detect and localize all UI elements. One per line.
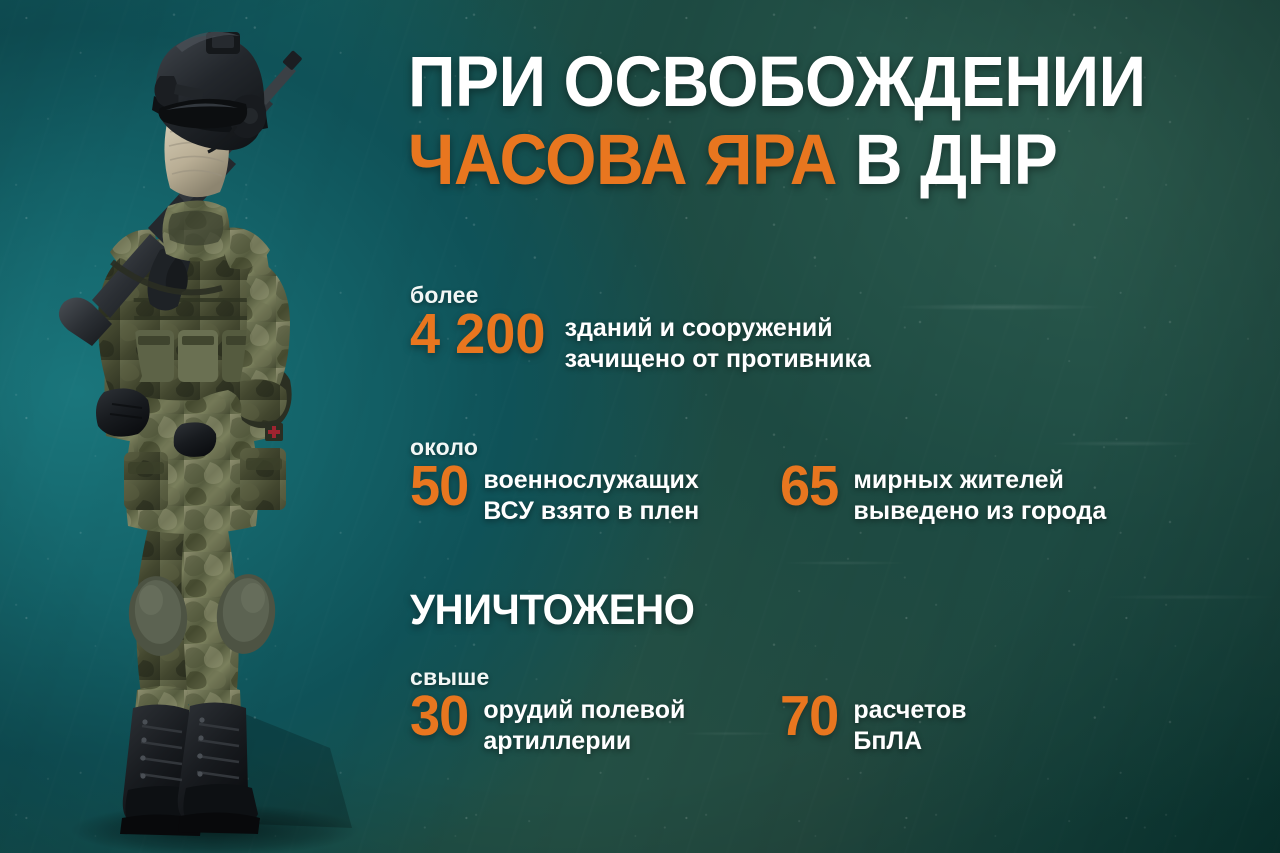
headline-region: В ДНР [855,121,1057,200]
stat-row: 4 200 зданий и сооружений зачищено от пр… [410,311,871,374]
stat-item-uav-crews: 70 расчетов БпЛА [780,693,966,756]
stat-prefix: свыше [410,664,966,691]
headline-city: ЧАСОВА ЯРА [408,121,837,200]
stat-description-line-2: артиллерии [483,726,685,757]
stat-value: 30 [410,693,468,740]
headline-line-2: ЧАСОВА ЯРА В ДНР [408,126,1022,196]
stat-description-line-1: орудий полевой [483,695,685,726]
stat-value: 70 [780,693,838,740]
stat-item-pow: 50 военнослужащих ВСУ взято в плен [410,463,780,526]
stat-item-buildings: 4 200 зданий и сооружений зачищено от пр… [410,311,871,374]
stat-description: мирных жителей выведено из города [853,463,1106,526]
stat-group-people: около 50 военнослужащих ВСУ взято в плен… [410,434,1106,526]
stat-description: зданий и сооружений зачищено от противни… [565,311,871,374]
stat-item-civilians: 65 мирных жителей выведено из города [780,463,1106,526]
stat-value: 65 [780,463,838,510]
stat-group-buildings: более 4 200 зданий и сооружений зачищено… [410,282,871,374]
stat-description-line-1: зданий и сооружений [565,313,871,344]
stat-row: 50 военнослужащих ВСУ взято в плен 65 ми… [410,463,1106,526]
infographic-poster: ПРИ ОСВОБОЖДЕНИИ ЧАСОВА ЯРА В ДНР более … [0,0,1280,853]
stat-group-destroyed: свыше 30 орудий полевой артиллерии 70 ра… [410,664,966,756]
content-column: ПРИ ОСВОБОЖДЕНИИ ЧАСОВА ЯРА В ДНР более … [408,0,1280,853]
stat-description-line-2: БпЛА [853,726,966,757]
stat-description-line-2: зачищено от противника [565,344,871,375]
stat-prefix: около [410,434,1106,461]
stat-value: 50 [410,463,468,510]
section-title-destroyed: УНИЧТОЖЕНО [410,586,695,635]
stat-description: расчетов БпЛА [853,693,966,756]
stat-description: военнослужащих ВСУ взято в плен [483,463,699,526]
stat-description-line-1: расчетов [853,695,966,726]
soldier-figure [0,0,420,853]
stat-description: орудий полевой артиллерии [483,693,685,756]
stat-description-line-1: мирных жителей [853,465,1106,496]
stat-description-line-2: ВСУ взято в плен [483,496,699,527]
stat-item-artillery: 30 орудий полевой артиллерии [410,693,780,756]
page-title: ПРИ ОСВОБОЖДЕНИИ ЧАСОВА ЯРА В ДНР [408,48,1068,195]
stat-description-line-2: выведено из города [853,496,1106,527]
headline-line-1: ПРИ ОСВОБОЖДЕНИИ [408,48,1022,118]
stat-value: 4 200 [410,311,546,358]
stat-row: 30 орудий полевой артиллерии 70 расчетов… [410,693,966,756]
stat-description-line-1: военнослужащих [483,465,699,496]
